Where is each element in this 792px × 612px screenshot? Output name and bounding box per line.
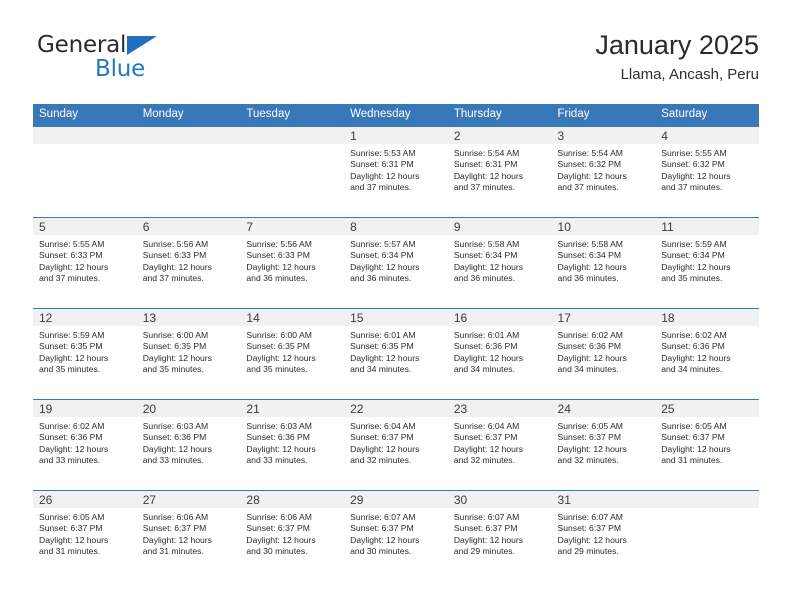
day-cell-inner: 12Sunrise: 5:59 AMSunset: 6:35 PMDayligh… <box>33 309 137 399</box>
title-block: January 2025 Llama, Ancash, Peru <box>595 28 759 86</box>
sunset-text: Sunset: 6:37 PM <box>558 523 651 534</box>
day-number: 1 <box>344 127 448 144</box>
sunrise-text: Sunrise: 6:06 AM <box>246 512 339 523</box>
day-cell-inner: 4Sunrise: 5:55 AMSunset: 6:32 PMDaylight… <box>655 127 759 217</box>
daylight-text-line2: and 35 minutes. <box>246 364 339 375</box>
daylight-text-line1: Daylight: 12 hours <box>246 535 339 546</box>
calendar-day-cell[interactable]: 4Sunrise: 5:55 AMSunset: 6:32 PMDaylight… <box>655 127 759 218</box>
daylight-text-line2: and 37 minutes. <box>661 182 754 193</box>
calendar-day-cell-empty <box>33 127 137 218</box>
sunset-text: Sunset: 6:37 PM <box>350 432 443 443</box>
sunset-text: Sunset: 6:37 PM <box>143 523 236 534</box>
calendar-day-cell[interactable]: 2Sunrise: 5:54 AMSunset: 6:31 PMDaylight… <box>448 127 552 218</box>
calendar-day-cell[interactable]: 17Sunrise: 6:02 AMSunset: 6:36 PMDayligh… <box>552 309 656 400</box>
weekday-header-wednesday: Wednesday <box>344 104 448 127</box>
calendar-day-cell[interactable]: 19Sunrise: 6:02 AMSunset: 6:36 PMDayligh… <box>33 400 137 491</box>
sunrise-text: Sunrise: 5:55 AM <box>39 239 132 250</box>
daylight-text-line2: and 32 minutes. <box>558 455 651 466</box>
sunset-text: Sunset: 6:33 PM <box>246 250 339 261</box>
logo-text-general: General <box>37 32 126 58</box>
day-details: Sunrise: 5:54 AMSunset: 6:32 PMDaylight:… <box>552 144 656 194</box>
sunrise-text: Sunrise: 6:05 AM <box>558 421 651 432</box>
calendar-day-cell[interactable]: 8Sunrise: 5:57 AMSunset: 6:34 PMDaylight… <box>344 218 448 309</box>
daylight-text-line1: Daylight: 12 hours <box>661 262 754 273</box>
daylight-text-line2: and 35 minutes. <box>143 364 236 375</box>
day-cell-inner: 14Sunrise: 6:00 AMSunset: 6:35 PMDayligh… <box>240 309 344 399</box>
calendar-day-cell[interactable]: 20Sunrise: 6:03 AMSunset: 6:36 PMDayligh… <box>137 400 241 491</box>
sunrise-text: Sunrise: 6:06 AM <box>143 512 236 523</box>
day-number: 8 <box>344 218 448 235</box>
daylight-text-line2: and 34 minutes. <box>454 364 547 375</box>
daylight-text-line1: Daylight: 12 hours <box>350 353 443 364</box>
sunrise-text: Sunrise: 6:01 AM <box>350 330 443 341</box>
daylight-text-line1: Daylight: 12 hours <box>39 262 132 273</box>
sunset-text: Sunset: 6:37 PM <box>350 523 443 534</box>
calendar-day-cell[interactable]: 31Sunrise: 6:07 AMSunset: 6:37 PMDayligh… <box>552 491 656 582</box>
day-details: Sunrise: 6:00 AMSunset: 6:35 PMDaylight:… <box>137 326 241 376</box>
sunrise-text: Sunrise: 5:59 AM <box>661 239 754 250</box>
sunrise-text: Sunrise: 5:53 AM <box>350 148 443 159</box>
day-number: 29 <box>344 491 448 508</box>
day-cell-inner <box>33 127 137 217</box>
day-cell-inner: 21Sunrise: 6:03 AMSunset: 6:36 PMDayligh… <box>240 400 344 490</box>
sunset-text: Sunset: 6:36 PM <box>454 341 547 352</box>
daylight-text-line1: Daylight: 12 hours <box>39 444 132 455</box>
day-number: 15 <box>344 309 448 326</box>
daylight-text-line1: Daylight: 12 hours <box>558 262 651 273</box>
sunrise-text: Sunrise: 6:02 AM <box>558 330 651 341</box>
day-details: Sunrise: 6:05 AMSunset: 6:37 PMDaylight:… <box>33 508 137 558</box>
calendar-day-cell[interactable]: 6Sunrise: 5:56 AMSunset: 6:33 PMDaylight… <box>137 218 241 309</box>
sunset-text: Sunset: 6:35 PM <box>246 341 339 352</box>
day-number: 17 <box>552 309 656 326</box>
day-details: Sunrise: 6:04 AMSunset: 6:37 PMDaylight:… <box>448 417 552 467</box>
sunrise-text: Sunrise: 5:58 AM <box>558 239 651 250</box>
day-details: Sunrise: 5:55 AMSunset: 6:33 PMDaylight:… <box>33 235 137 285</box>
day-number: 19 <box>33 400 137 417</box>
calendar-day-cell[interactable]: 16Sunrise: 6:01 AMSunset: 6:36 PMDayligh… <box>448 309 552 400</box>
sunrise-text: Sunrise: 6:01 AM <box>454 330 547 341</box>
sunrise-text: Sunrise: 5:54 AM <box>558 148 651 159</box>
daylight-text-line1: Daylight: 12 hours <box>661 353 754 364</box>
daylight-text-line2: and 37 minutes. <box>558 182 651 193</box>
sunset-text: Sunset: 6:34 PM <box>558 250 651 261</box>
day-cell-inner: 19Sunrise: 6:02 AMSunset: 6:36 PMDayligh… <box>33 400 137 490</box>
calendar-day-cell[interactable]: 9Sunrise: 5:58 AMSunset: 6:34 PMDaylight… <box>448 218 552 309</box>
daylight-text-line2: and 31 minutes. <box>143 546 236 557</box>
day-number: 6 <box>137 218 241 235</box>
weekday-header-monday: Monday <box>137 104 241 127</box>
day-cell-inner: 13Sunrise: 6:00 AMSunset: 6:35 PMDayligh… <box>137 309 241 399</box>
sunrise-text: Sunrise: 5:54 AM <box>454 148 547 159</box>
calendar-day-cell[interactable]: 14Sunrise: 6:00 AMSunset: 6:35 PMDayligh… <box>240 309 344 400</box>
daylight-text-line2: and 37 minutes. <box>350 182 443 193</box>
sunrise-text: Sunrise: 6:05 AM <box>39 512 132 523</box>
daylight-text-line1: Daylight: 12 hours <box>143 444 236 455</box>
day-cell-inner: 27Sunrise: 6:06 AMSunset: 6:37 PMDayligh… <box>137 491 241 581</box>
calendar-day-cell[interactable]: 7Sunrise: 5:56 AMSunset: 6:33 PMDaylight… <box>240 218 344 309</box>
daylight-text-line1: Daylight: 12 hours <box>661 444 754 455</box>
daylight-text-line1: Daylight: 12 hours <box>558 353 651 364</box>
sunset-text: Sunset: 6:33 PM <box>143 250 236 261</box>
calendar-week-row: 1Sunrise: 5:53 AMSunset: 6:31 PMDaylight… <box>33 127 759 218</box>
day-number <box>33 127 137 144</box>
calendar-week-row: 19Sunrise: 6:02 AMSunset: 6:36 PMDayligh… <box>33 400 759 491</box>
day-cell-inner: 5Sunrise: 5:55 AMSunset: 6:33 PMDaylight… <box>33 218 137 308</box>
sunset-text: Sunset: 6:37 PM <box>454 523 547 534</box>
day-number <box>655 491 759 508</box>
sunrise-text: Sunrise: 6:04 AM <box>350 421 443 432</box>
day-cell-inner <box>137 127 241 217</box>
day-number <box>137 127 241 144</box>
calendar-page: General Blue January 2025 Llama, Ancash,… <box>0 0 792 612</box>
daylight-text-line1: Daylight: 12 hours <box>143 535 236 546</box>
logo-text-blue: Blue <box>95 56 145 82</box>
daylight-text-line1: Daylight: 12 hours <box>246 262 339 273</box>
day-details: Sunrise: 6:03 AMSunset: 6:36 PMDaylight:… <box>137 417 241 467</box>
sunset-text: Sunset: 6:37 PM <box>454 432 547 443</box>
day-number: 16 <box>448 309 552 326</box>
day-cell-inner: 9Sunrise: 5:58 AMSunset: 6:34 PMDaylight… <box>448 218 552 308</box>
day-number: 27 <box>137 491 241 508</box>
daylight-text-line2: and 36 minutes. <box>454 273 547 284</box>
daylight-text-line2: and 37 minutes. <box>39 273 132 284</box>
day-details: Sunrise: 6:02 AMSunset: 6:36 PMDaylight:… <box>552 326 656 376</box>
daylight-text-line2: and 35 minutes. <box>661 273 754 284</box>
daylight-text-line1: Daylight: 12 hours <box>143 262 236 273</box>
sunrise-text: Sunrise: 6:03 AM <box>246 421 339 432</box>
day-details: Sunrise: 6:07 AMSunset: 6:37 PMDaylight:… <box>448 508 552 558</box>
day-number: 28 <box>240 491 344 508</box>
day-details: Sunrise: 6:00 AMSunset: 6:35 PMDaylight:… <box>240 326 344 376</box>
sunset-text: Sunset: 6:35 PM <box>39 341 132 352</box>
daylight-text-line1: Daylight: 12 hours <box>39 535 132 546</box>
day-cell-inner: 17Sunrise: 6:02 AMSunset: 6:36 PMDayligh… <box>552 309 656 399</box>
day-details: Sunrise: 6:06 AMSunset: 6:37 PMDaylight:… <box>137 508 241 558</box>
day-number: 13 <box>137 309 241 326</box>
sunset-text: Sunset: 6:36 PM <box>143 432 236 443</box>
day-cell-inner: 7Sunrise: 5:56 AMSunset: 6:33 PMDaylight… <box>240 218 344 308</box>
daylight-text-line2: and 34 minutes. <box>350 364 443 375</box>
day-cell-inner: 28Sunrise: 6:06 AMSunset: 6:37 PMDayligh… <box>240 491 344 581</box>
weekday-header-tuesday: Tuesday <box>240 104 344 127</box>
daylight-text-line1: Daylight: 12 hours <box>246 353 339 364</box>
calendar-day-cell[interactable]: 26Sunrise: 6:05 AMSunset: 6:37 PMDayligh… <box>33 491 137 582</box>
day-cell-inner: 10Sunrise: 5:58 AMSunset: 6:34 PMDayligh… <box>552 218 656 308</box>
day-cell-inner: 30Sunrise: 6:07 AMSunset: 6:37 PMDayligh… <box>448 491 552 581</box>
day-details: Sunrise: 6:01 AMSunset: 6:35 PMDaylight:… <box>344 326 448 376</box>
daylight-text-line2: and 37 minutes. <box>143 273 236 284</box>
sunrise-text: Sunrise: 6:00 AM <box>246 330 339 341</box>
weekday-header-friday: Friday <box>552 104 656 127</box>
blue-triangle-logo-icon <box>127 36 157 55</box>
daylight-text-line1: Daylight: 12 hours <box>558 444 651 455</box>
daylight-text-line2: and 36 minutes. <box>558 273 651 284</box>
day-cell-inner: 29Sunrise: 6:07 AMSunset: 6:37 PMDayligh… <box>344 491 448 581</box>
daylight-text-line2: and 29 minutes. <box>454 546 547 557</box>
daylight-text-line2: and 32 minutes. <box>350 455 443 466</box>
day-cell-inner <box>240 127 344 217</box>
day-cell-inner: 6Sunrise: 5:56 AMSunset: 6:33 PMDaylight… <box>137 218 241 308</box>
day-details: Sunrise: 6:03 AMSunset: 6:36 PMDaylight:… <box>240 417 344 467</box>
day-number: 14 <box>240 309 344 326</box>
logo[interactable]: General Blue <box>33 32 233 88</box>
day-number: 30 <box>448 491 552 508</box>
calendar-day-cell[interactable]: 11Sunrise: 5:59 AMSunset: 6:34 PMDayligh… <box>655 218 759 309</box>
day-cell-inner: 24Sunrise: 6:05 AMSunset: 6:37 PMDayligh… <box>552 400 656 490</box>
daylight-text-line2: and 31 minutes. <box>39 546 132 557</box>
day-number: 24 <box>552 400 656 417</box>
day-details: Sunrise: 6:06 AMSunset: 6:37 PMDaylight:… <box>240 508 344 558</box>
daylight-text-line2: and 36 minutes. <box>246 273 339 284</box>
calendar-day-cell[interactable]: 13Sunrise: 6:00 AMSunset: 6:35 PMDayligh… <box>137 309 241 400</box>
sunset-text: Sunset: 6:37 PM <box>558 432 651 443</box>
sunrise-text: Sunrise: 6:07 AM <box>350 512 443 523</box>
day-cell-inner: 31Sunrise: 6:07 AMSunset: 6:37 PMDayligh… <box>552 491 656 581</box>
calendar-day-cell-empty <box>240 127 344 218</box>
day-details: Sunrise: 5:56 AMSunset: 6:33 PMDaylight:… <box>137 235 241 285</box>
daylight-text-line2: and 32 minutes. <box>454 455 547 466</box>
day-cell-inner: 15Sunrise: 6:01 AMSunset: 6:35 PMDayligh… <box>344 309 448 399</box>
daylight-text-line2: and 37 minutes. <box>454 182 547 193</box>
day-cell-inner: 18Sunrise: 6:02 AMSunset: 6:36 PMDayligh… <box>655 309 759 399</box>
sunrise-text: Sunrise: 5:56 AM <box>143 239 236 250</box>
day-number: 4 <box>655 127 759 144</box>
daylight-text-line2: and 33 minutes. <box>246 455 339 466</box>
daylight-text-line1: Daylight: 12 hours <box>350 262 443 273</box>
sunrise-text: Sunrise: 6:00 AM <box>143 330 236 341</box>
sunrise-text: Sunrise: 6:05 AM <box>661 421 754 432</box>
day-details: Sunrise: 5:59 AMSunset: 6:35 PMDaylight:… <box>33 326 137 376</box>
sunrise-text: Sunrise: 6:03 AM <box>143 421 236 432</box>
calendar-day-cell-empty <box>655 491 759 582</box>
page-title: January 2025 <box>595 28 759 62</box>
weekday-header-thursday: Thursday <box>448 104 552 127</box>
daylight-text-line2: and 35 minutes. <box>39 364 132 375</box>
day-number: 7 <box>240 218 344 235</box>
day-number: 2 <box>448 127 552 144</box>
sunset-text: Sunset: 6:32 PM <box>661 159 754 170</box>
sunset-text: Sunset: 6:36 PM <box>246 432 339 443</box>
calendar-day-cell[interactable]: 29Sunrise: 6:07 AMSunset: 6:37 PMDayligh… <box>344 491 448 582</box>
calendar-day-cell[interactable]: 12Sunrise: 5:59 AMSunset: 6:35 PMDayligh… <box>33 309 137 400</box>
day-number: 23 <box>448 400 552 417</box>
sunset-text: Sunset: 6:37 PM <box>39 523 132 534</box>
sunrise-text: Sunrise: 6:07 AM <box>558 512 651 523</box>
sunset-text: Sunset: 6:37 PM <box>246 523 339 534</box>
calendar-day-cell[interactable]: 24Sunrise: 6:05 AMSunset: 6:37 PMDayligh… <box>552 400 656 491</box>
sunset-text: Sunset: 6:36 PM <box>39 432 132 443</box>
calendar-week-row: 12Sunrise: 5:59 AMSunset: 6:35 PMDayligh… <box>33 309 759 400</box>
calendar-day-cell[interactable]: 15Sunrise: 6:01 AMSunset: 6:35 PMDayligh… <box>344 309 448 400</box>
daylight-text-line2: and 34 minutes. <box>558 364 651 375</box>
sunrise-text: Sunrise: 5:56 AM <box>246 239 339 250</box>
calendar-day-cell[interactable]: 23Sunrise: 6:04 AMSunset: 6:37 PMDayligh… <box>448 400 552 491</box>
day-details: Sunrise: 6:07 AMSunset: 6:37 PMDaylight:… <box>552 508 656 558</box>
day-details: Sunrise: 5:56 AMSunset: 6:33 PMDaylight:… <box>240 235 344 285</box>
day-details: Sunrise: 5:57 AMSunset: 6:34 PMDaylight:… <box>344 235 448 285</box>
daylight-text-line1: Daylight: 12 hours <box>454 353 547 364</box>
day-cell-inner: 11Sunrise: 5:59 AMSunset: 6:34 PMDayligh… <box>655 218 759 308</box>
daylight-text-line2: and 33 minutes. <box>39 455 132 466</box>
calendar-table: SundayMondayTuesdayWednesdayThursdayFrid… <box>33 104 759 581</box>
daylight-text-line1: Daylight: 12 hours <box>246 444 339 455</box>
page-subtitle: Llama, Ancash, Peru <box>595 64 759 86</box>
day-cell-inner: 22Sunrise: 6:04 AMSunset: 6:37 PMDayligh… <box>344 400 448 490</box>
day-number: 26 <box>33 491 137 508</box>
day-number: 25 <box>655 400 759 417</box>
calendar-day-cell[interactable]: 27Sunrise: 6:06 AMSunset: 6:37 PMDayligh… <box>137 491 241 582</box>
day-details: Sunrise: 5:59 AMSunset: 6:34 PMDaylight:… <box>655 235 759 285</box>
day-details: Sunrise: 6:07 AMSunset: 6:37 PMDaylight:… <box>344 508 448 558</box>
day-details: Sunrise: 5:53 AMSunset: 6:31 PMDaylight:… <box>344 144 448 194</box>
daylight-text-line1: Daylight: 12 hours <box>350 171 443 182</box>
sunrise-text: Sunrise: 5:55 AM <box>661 148 754 159</box>
calendar-day-cell[interactable]: 30Sunrise: 6:07 AMSunset: 6:37 PMDayligh… <box>448 491 552 582</box>
day-cell-inner: 25Sunrise: 6:05 AMSunset: 6:37 PMDayligh… <box>655 400 759 490</box>
sunset-text: Sunset: 6:34 PM <box>661 250 754 261</box>
sunrise-text: Sunrise: 6:02 AM <box>39 421 132 432</box>
day-number: 18 <box>655 309 759 326</box>
daylight-text-line1: Daylight: 12 hours <box>39 353 132 364</box>
sunset-text: Sunset: 6:34 PM <box>350 250 443 261</box>
sunset-text: Sunset: 6:34 PM <box>454 250 547 261</box>
day-cell-inner: 3Sunrise: 5:54 AMSunset: 6:32 PMDaylight… <box>552 127 656 217</box>
sunset-text: Sunset: 6:31 PM <box>454 159 547 170</box>
daylight-text-line2: and 31 minutes. <box>661 455 754 466</box>
day-number: 12 <box>33 309 137 326</box>
day-details: Sunrise: 6:05 AMSunset: 6:37 PMDaylight:… <box>655 417 759 467</box>
calendar-week-row: 26Sunrise: 6:05 AMSunset: 6:37 PMDayligh… <box>33 491 759 582</box>
sunset-text: Sunset: 6:35 PM <box>143 341 236 352</box>
daylight-text-line1: Daylight: 12 hours <box>454 262 547 273</box>
daylight-text-line1: Daylight: 12 hours <box>558 535 651 546</box>
daylight-text-line2: and 34 minutes. <box>661 364 754 375</box>
daylight-text-line1: Daylight: 12 hours <box>454 171 547 182</box>
daylight-text-line1: Daylight: 12 hours <box>661 171 754 182</box>
sunset-text: Sunset: 6:37 PM <box>661 432 754 443</box>
calendar-day-cell[interactable]: 21Sunrise: 6:03 AMSunset: 6:36 PMDayligh… <box>240 400 344 491</box>
day-number: 31 <box>552 491 656 508</box>
weekday-header-row: SundayMondayTuesdayWednesdayThursdayFrid… <box>33 104 759 127</box>
day-number: 11 <box>655 218 759 235</box>
calendar-day-cell[interactable]: 3Sunrise: 5:54 AMSunset: 6:32 PMDaylight… <box>552 127 656 218</box>
sunset-text: Sunset: 6:32 PM <box>558 159 651 170</box>
page-header: General Blue January 2025 Llama, Ancash,… <box>33 28 759 90</box>
sunrise-text: Sunrise: 6:04 AM <box>454 421 547 432</box>
daylight-text-line1: Daylight: 12 hours <box>350 535 443 546</box>
sunset-text: Sunset: 6:33 PM <box>39 250 132 261</box>
calendar-day-cell-empty <box>137 127 241 218</box>
daylight-text-line2: and 33 minutes. <box>143 455 236 466</box>
calendar-day-cell[interactable]: 22Sunrise: 6:04 AMSunset: 6:37 PMDayligh… <box>344 400 448 491</box>
day-number: 3 <box>552 127 656 144</box>
day-number <box>240 127 344 144</box>
weekday-header-sunday: Sunday <box>33 104 137 127</box>
sunset-text: Sunset: 6:36 PM <box>558 341 651 352</box>
calendar-day-cell[interactable]: 5Sunrise: 5:55 AMSunset: 6:33 PMDaylight… <box>33 218 137 309</box>
day-number: 22 <box>344 400 448 417</box>
day-cell-inner: 2Sunrise: 5:54 AMSunset: 6:31 PMDaylight… <box>448 127 552 217</box>
weekday-header-saturday: Saturday <box>655 104 759 127</box>
sunrise-text: Sunrise: 5:57 AM <box>350 239 443 250</box>
day-cell-inner: 26Sunrise: 6:05 AMSunset: 6:37 PMDayligh… <box>33 491 137 581</box>
day-details: Sunrise: 5:54 AMSunset: 6:31 PMDaylight:… <box>448 144 552 194</box>
day-number: 21 <box>240 400 344 417</box>
day-details: Sunrise: 6:02 AMSunset: 6:36 PMDaylight:… <box>33 417 137 467</box>
day-cell-inner <box>655 491 759 581</box>
sunrise-text: Sunrise: 6:02 AM <box>661 330 754 341</box>
daylight-text-line1: Daylight: 12 hours <box>143 353 236 364</box>
daylight-text-line1: Daylight: 12 hours <box>558 171 651 182</box>
calendar-day-cell[interactable]: 10Sunrise: 5:58 AMSunset: 6:34 PMDayligh… <box>552 218 656 309</box>
daylight-text-line2: and 29 minutes. <box>558 546 651 557</box>
day-details: Sunrise: 6:05 AMSunset: 6:37 PMDaylight:… <box>552 417 656 467</box>
day-number: 20 <box>137 400 241 417</box>
day-cell-inner: 23Sunrise: 6:04 AMSunset: 6:37 PMDayligh… <box>448 400 552 490</box>
calendar-day-cell[interactable]: 1Sunrise: 5:53 AMSunset: 6:31 PMDaylight… <box>344 127 448 218</box>
sunrise-text: Sunrise: 5:58 AM <box>454 239 547 250</box>
daylight-text-line2: and 36 minutes. <box>350 273 443 284</box>
calendar-day-cell[interactable]: 18Sunrise: 6:02 AMSunset: 6:36 PMDayligh… <box>655 309 759 400</box>
day-number: 9 <box>448 218 552 235</box>
day-details: Sunrise: 5:58 AMSunset: 6:34 PMDaylight:… <box>448 235 552 285</box>
daylight-text-line2: and 30 minutes. <box>350 546 443 557</box>
daylight-text-line1: Daylight: 12 hours <box>454 535 547 546</box>
sunset-text: Sunset: 6:35 PM <box>350 341 443 352</box>
day-details: Sunrise: 6:01 AMSunset: 6:36 PMDaylight:… <box>448 326 552 376</box>
day-details: Sunrise: 5:55 AMSunset: 6:32 PMDaylight:… <box>655 144 759 194</box>
calendar-day-cell[interactable]: 25Sunrise: 6:05 AMSunset: 6:37 PMDayligh… <box>655 400 759 491</box>
calendar-week-row: 5Sunrise: 5:55 AMSunset: 6:33 PMDaylight… <box>33 218 759 309</box>
day-cell-inner: 1Sunrise: 5:53 AMSunset: 6:31 PMDaylight… <box>344 127 448 217</box>
day-details: Sunrise: 6:02 AMSunset: 6:36 PMDaylight:… <box>655 326 759 376</box>
day-cell-inner: 20Sunrise: 6:03 AMSunset: 6:36 PMDayligh… <box>137 400 241 490</box>
day-number: 5 <box>33 218 137 235</box>
daylight-text-line1: Daylight: 12 hours <box>454 444 547 455</box>
sunrise-text: Sunrise: 5:59 AM <box>39 330 132 341</box>
calendar-day-cell[interactable]: 28Sunrise: 6:06 AMSunset: 6:37 PMDayligh… <box>240 491 344 582</box>
day-details: Sunrise: 5:58 AMSunset: 6:34 PMDaylight:… <box>552 235 656 285</box>
day-details: Sunrise: 6:04 AMSunset: 6:37 PMDaylight:… <box>344 417 448 467</box>
day-cell-inner: 8Sunrise: 5:57 AMSunset: 6:34 PMDaylight… <box>344 218 448 308</box>
day-cell-inner: 16Sunrise: 6:01 AMSunset: 6:36 PMDayligh… <box>448 309 552 399</box>
sunset-text: Sunset: 6:31 PM <box>350 159 443 170</box>
daylight-text-line1: Daylight: 12 hours <box>350 444 443 455</box>
day-number: 10 <box>552 218 656 235</box>
sunset-text: Sunset: 6:36 PM <box>661 341 754 352</box>
sunrise-text: Sunrise: 6:07 AM <box>454 512 547 523</box>
daylight-text-line2: and 30 minutes. <box>246 546 339 557</box>
